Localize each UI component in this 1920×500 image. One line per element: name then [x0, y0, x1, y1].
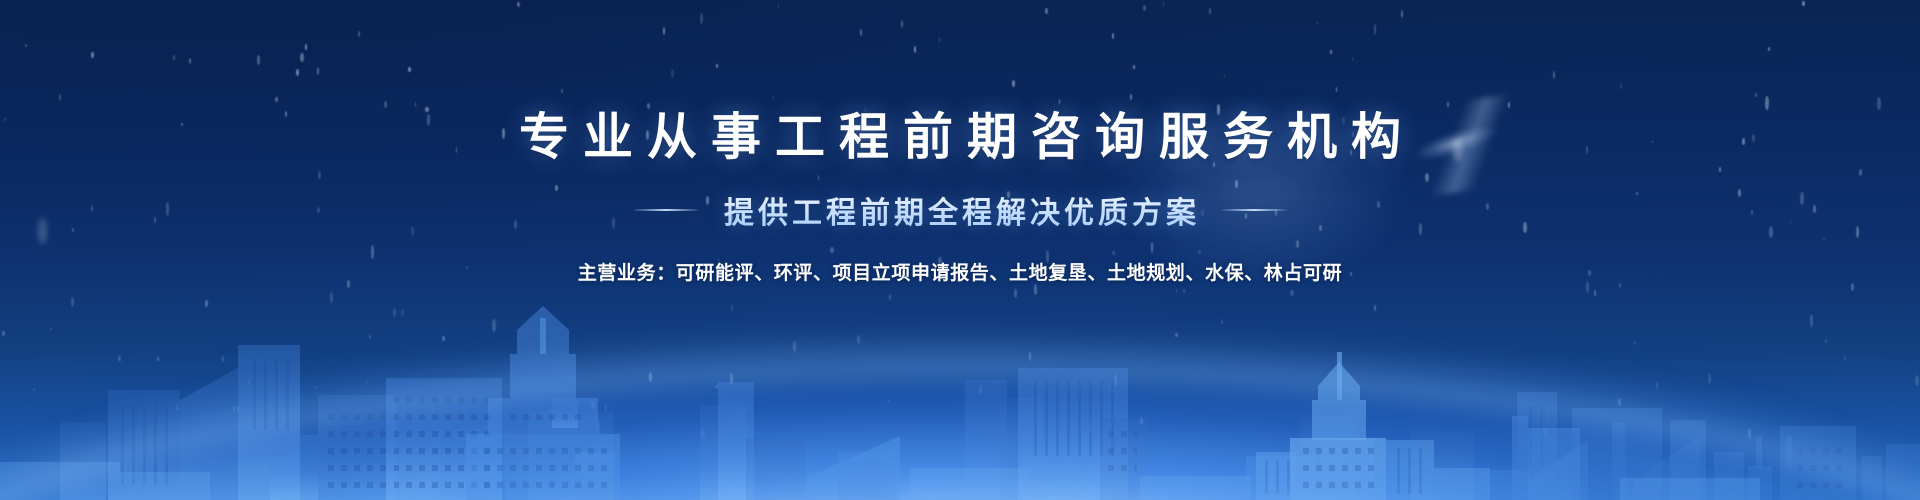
dash-left-icon — [634, 209, 698, 211]
subtitle-row: 提供工程前期全程解决优质方案 — [0, 188, 1920, 232]
business-scope-text: 主营业务：可研能评、环评、项目立项申请报告、土地复垦、土地规划、水保、林占可研 — [0, 258, 1920, 285]
page-title: 专业从事工程前期咨询服务机构 — [0, 0, 1920, 162]
banner-text-block: 专业从事工程前期咨询服务机构 提供工程前期全程解决优质方案 主营业务：可研能评、… — [0, 0, 1920, 285]
hero-banner: 专业从事工程前期咨询服务机构 提供工程前期全程解决优质方案 主营业务：可研能评、… — [0, 0, 1920, 500]
page-subtitle: 提供工程前期全程解决优质方案 — [720, 188, 1200, 232]
dash-right-icon — [1222, 209, 1286, 211]
